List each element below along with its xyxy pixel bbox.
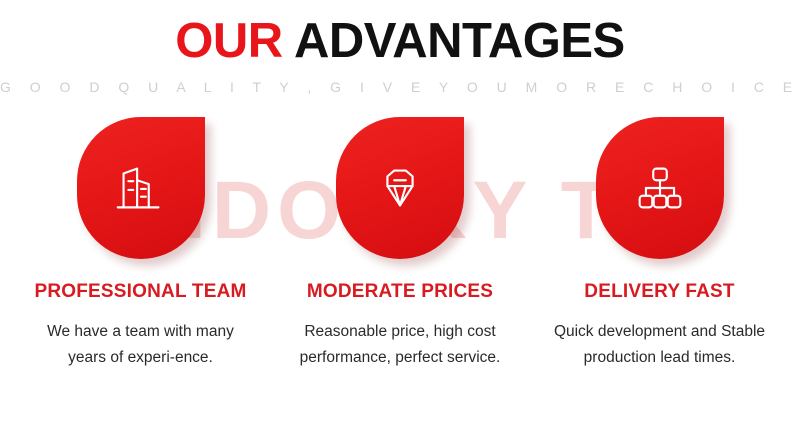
card-heading: DELIVERY FAST <box>584 281 734 303</box>
advantage-card: MODERATE PRICES Reasonable price, high c… <box>274 117 527 369</box>
page-title-accent: OUR <box>175 14 282 68</box>
diamond-icon <box>369 157 431 219</box>
badge-shape <box>77 117 205 259</box>
page-title-rest: ADVANTAGES <box>283 14 625 68</box>
building-icon <box>110 157 172 219</box>
page-title: OUR ADVANTAGES <box>0 16 800 67</box>
card-heading: MODERATE PRICES <box>307 281 493 303</box>
badge-shape <box>596 117 724 259</box>
banner-header: OUR ADVANTAGES G O O D Q U A L I T Y , G… <box>0 0 800 95</box>
advantage-cards: PROFESSIONAL TEAM We have a team with ma… <box>0 95 800 369</box>
badge-shape <box>336 117 464 259</box>
card-body: Quick development and Stable production … <box>552 319 767 369</box>
card-heading: PROFESSIONAL TEAM <box>34 281 246 303</box>
advantage-card: DELIVERY FAST Quick development and Stab… <box>533 117 786 369</box>
advantage-card: PROFESSIONAL TEAM We have a team with ma… <box>14 117 267 369</box>
card-body: We have a team with many years of experi… <box>33 319 248 369</box>
org-chart-icon <box>629 157 691 219</box>
advantages-banner: IDOSKY T OUR ADVANTAGES G O O D Q U A L … <box>0 0 800 446</box>
page-subtitle: G O O D Q U A L I T Y , G I V E Y O U M … <box>0 79 800 95</box>
card-body: Reasonable price, high cost performance,… <box>293 319 508 369</box>
